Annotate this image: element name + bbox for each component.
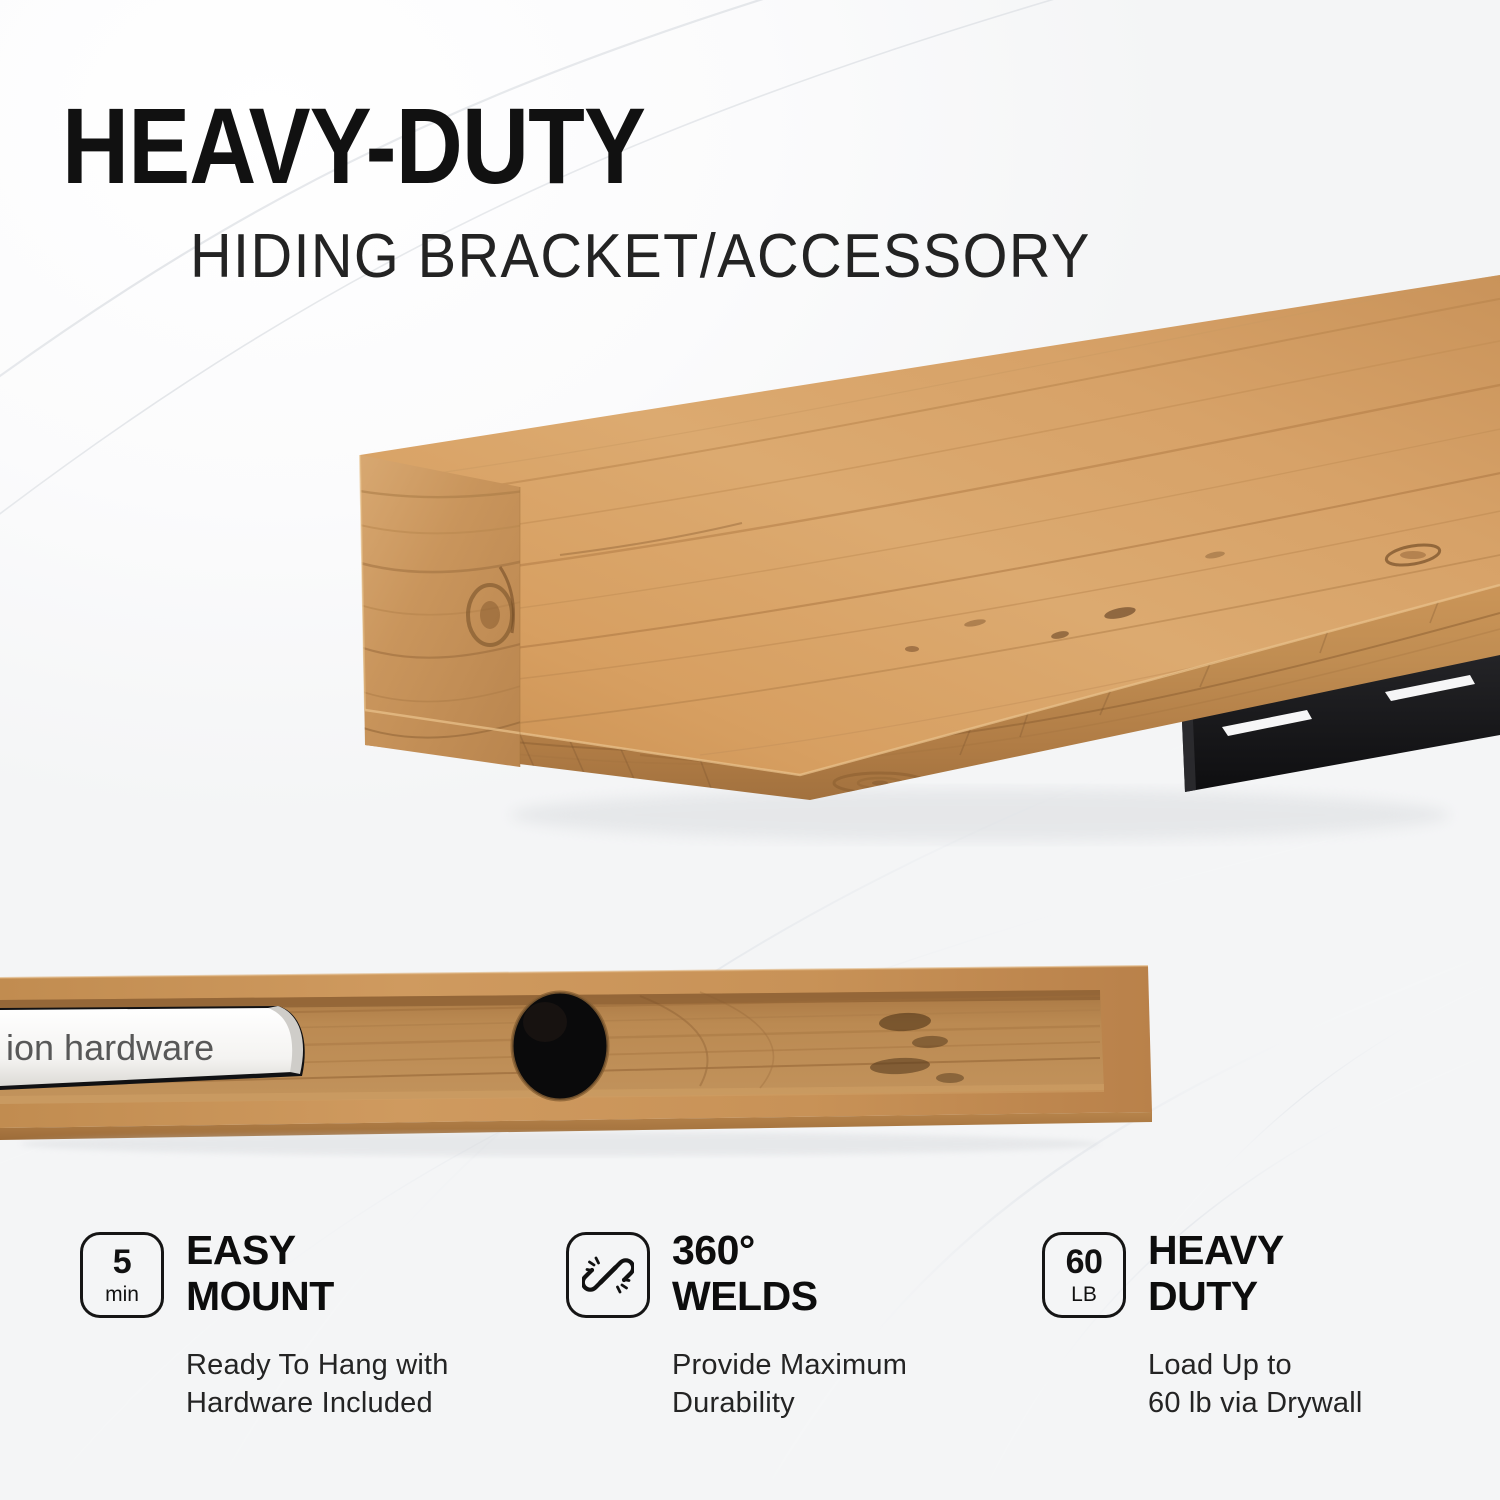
feature-title: 360° WELDS xyxy=(672,1228,818,1320)
feature-title: HEAVY DUTY xyxy=(1148,1228,1284,1320)
badge-value: 60 xyxy=(1066,1245,1103,1279)
badge-60-lb: 60 LB xyxy=(1042,1232,1126,1318)
installation-hardware-box-inserted: ion hardware xyxy=(0,1006,305,1090)
product-photo-shelf-bracket: Installation xyxy=(0,255,1500,855)
feature-description: Load Up to 60 lb via Drywall xyxy=(1148,1346,1363,1423)
product-photo-shelf-channel: ion hardware xyxy=(0,900,1500,1160)
feature-description: Provide Maximum Durability xyxy=(672,1346,907,1423)
feature-360-welds: 360° WELDS Provide Maximum Durability xyxy=(566,1232,907,1422)
box-label-text-bottom: ion hardware xyxy=(6,1027,214,1068)
feature-description: Ready To Hang with Hardware Included xyxy=(186,1346,449,1423)
page-title: HEAVY-DUTY xyxy=(62,92,1008,200)
badge-unit: min xyxy=(105,1284,139,1305)
feature-easy-mount: 5 min EASY MOUNT Ready To Hang with Hard… xyxy=(80,1232,449,1422)
badge-unit: LB xyxy=(1071,1284,1097,1305)
badge-weld-icon xyxy=(566,1232,650,1318)
badge-5-min: 5 min xyxy=(80,1232,164,1318)
chain-link-weld-icon xyxy=(582,1249,634,1301)
feature-title: EASY MOUNT xyxy=(186,1228,334,1320)
feature-heavy-duty: 60 LB HEAVY DUTY Load Up to 60 lb via Dr… xyxy=(1042,1232,1363,1422)
badge-value: 5 xyxy=(113,1245,131,1279)
product-marketing-image: HEAVY-DUTY HIDING BRACKET/ACCESSORY xyxy=(0,0,1500,1500)
feature-strip: 5 min EASY MOUNT Ready To Hang with Hard… xyxy=(0,1232,1500,1452)
